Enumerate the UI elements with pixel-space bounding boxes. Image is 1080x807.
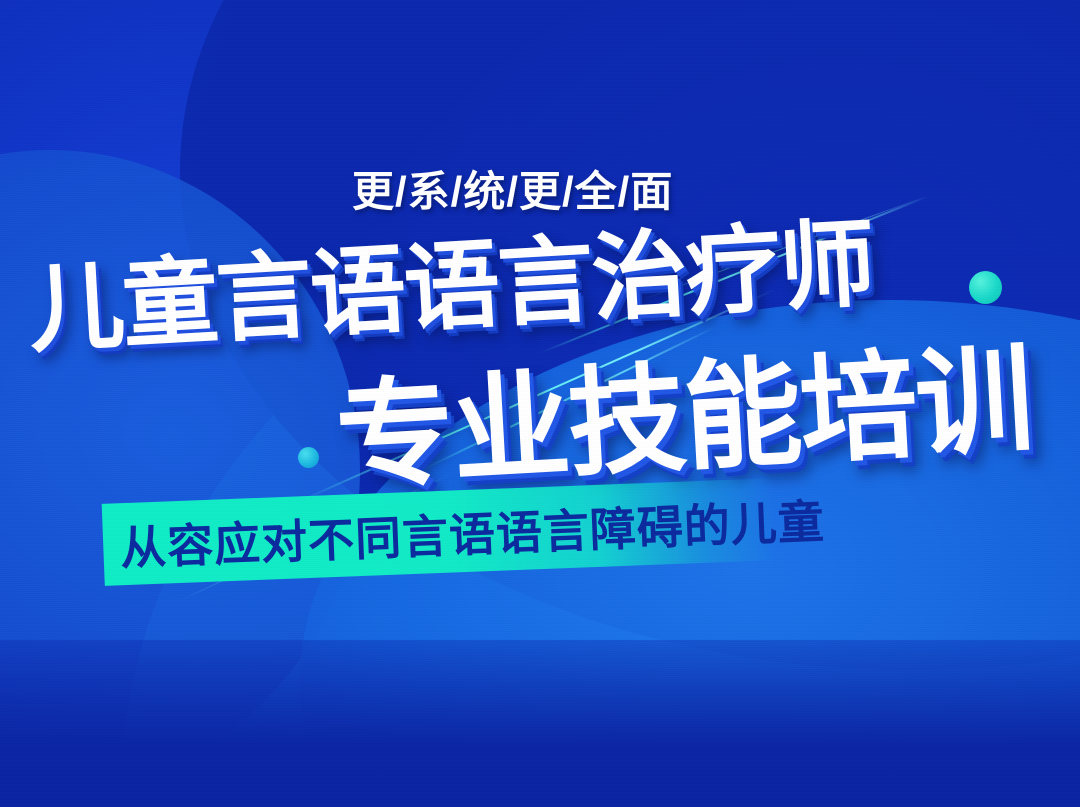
cyan-dot-small-icon	[298, 447, 319, 468]
promo-banner: 更/系/统/更/全/面 儿童言语语言治疗师 专业技能培训 从容应对不同言语语言障…	[0, 0, 1080, 807]
teal-dot-large-icon	[969, 271, 1002, 304]
background-bottom-mask	[0, 640, 1080, 807]
kicker-text: 更/系/统/更/全/面	[352, 168, 673, 216]
